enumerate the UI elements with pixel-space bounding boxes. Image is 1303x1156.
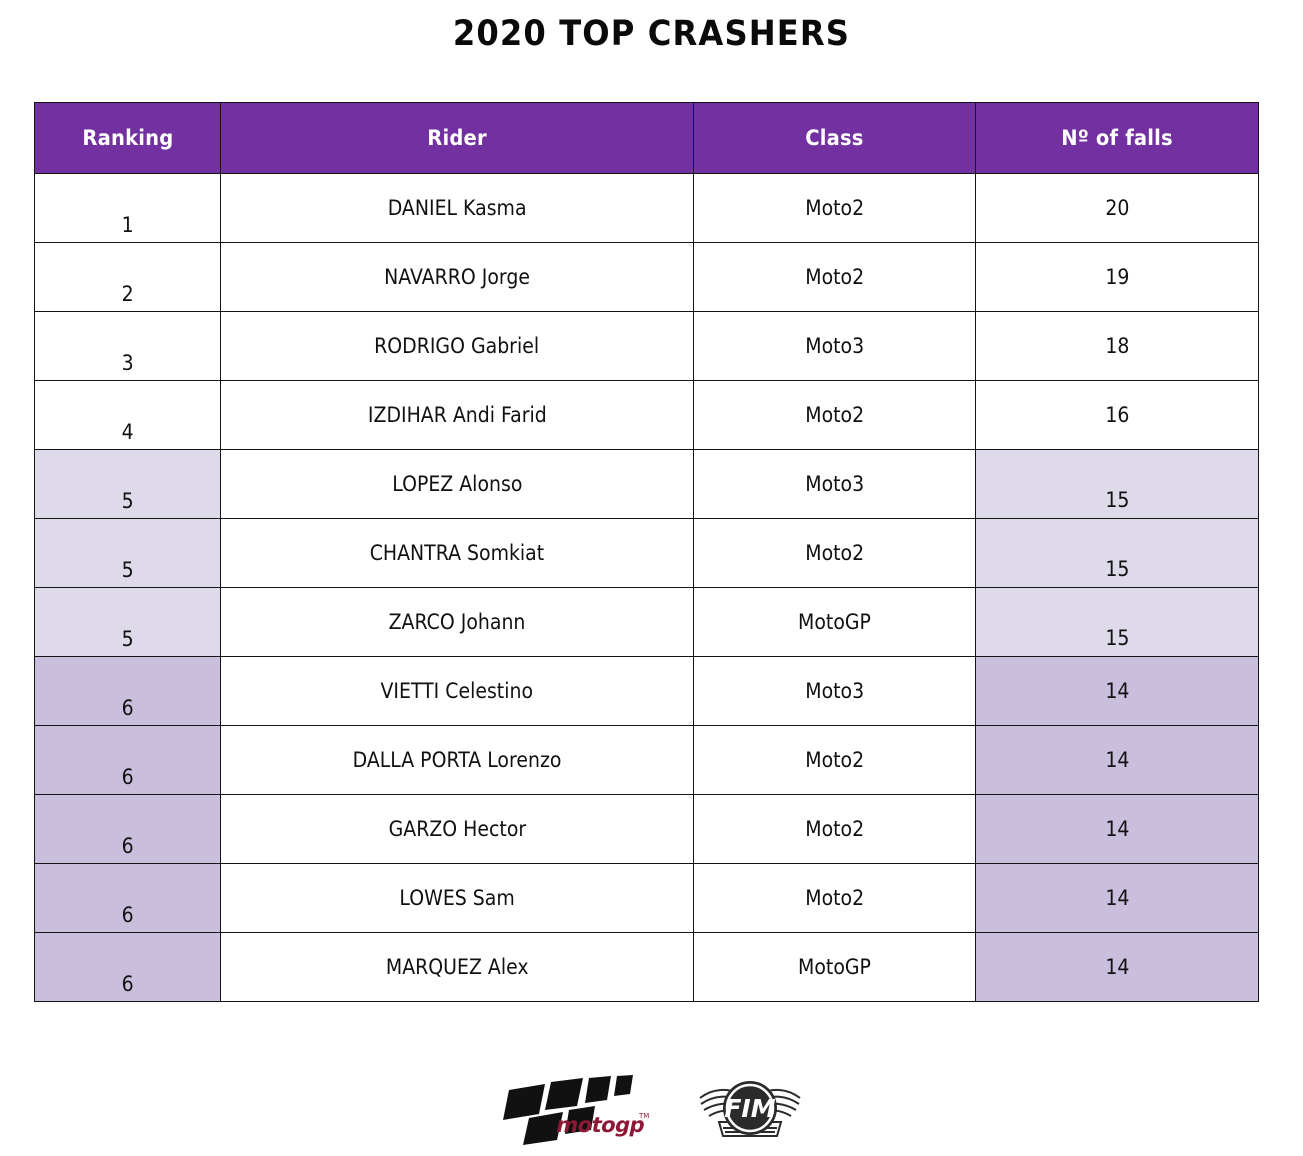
svg-text:FIM: FIM: [724, 1094, 775, 1123]
cell-rider: RODRIGO Gabriel: [221, 312, 694, 381]
cell-falls-text: 15: [1105, 488, 1129, 512]
cell-falls: 20: [976, 174, 1259, 243]
cell-rider-text: IZDIHAR Andi Farid: [368, 403, 547, 427]
cell-rider: VIETTI Celestino: [221, 657, 694, 726]
cell-class-text: Moto3: [805, 334, 864, 358]
page-title: 2020 TOP CRASHERS: [52, 14, 1251, 54]
cell-falls: 18: [976, 312, 1259, 381]
cell-rider-text: GARZO Hector: [388, 817, 526, 841]
table-row: 4IZDIHAR Andi FaridMoto216: [35, 381, 1259, 450]
motogp-logo: motogp TM: [499, 1074, 651, 1146]
cell-ranking-text: 6: [121, 765, 133, 789]
cell-falls: 15: [976, 519, 1259, 588]
cell-class-text: Moto2: [805, 817, 864, 841]
cell-falls: 19: [976, 243, 1259, 312]
cell-falls-text: 14: [1105, 955, 1129, 979]
column-header-class[interactable]: Class: [694, 103, 976, 174]
cell-class: MotoGP: [694, 933, 976, 1002]
cell-class: Moto3: [694, 312, 976, 381]
table-row: 6VIETTI CelestinoMoto314: [35, 657, 1259, 726]
cell-falls-text: 14: [1105, 886, 1129, 910]
cell-falls: 14: [976, 864, 1259, 933]
cell-falls: 14: [976, 933, 1259, 1002]
cell-class-text: Moto3: [805, 472, 864, 496]
cell-falls-text: 15: [1105, 557, 1129, 581]
cell-rider-text: MARQUEZ Alex: [386, 955, 529, 979]
column-header-rider-label: Rider: [427, 126, 487, 150]
fim-logo: FIM: [695, 1068, 805, 1152]
cell-class: Moto2: [694, 381, 976, 450]
cell-class-text: Moto3: [805, 679, 864, 703]
cell-rider: GARZO Hector: [221, 795, 694, 864]
cell-ranking-text: 6: [121, 903, 133, 927]
cell-ranking: 1: [35, 174, 221, 243]
cell-rider-text: LOWES Sam: [399, 886, 514, 910]
cell-falls: 14: [976, 726, 1259, 795]
cell-falls: 15: [976, 588, 1259, 657]
cell-class: Moto2: [694, 174, 976, 243]
column-header-rider[interactable]: Rider: [221, 103, 694, 174]
cell-rider: IZDIHAR Andi Farid: [221, 381, 694, 450]
cell-ranking: 5: [35, 519, 221, 588]
cell-class-text: MotoGP: [798, 610, 871, 634]
cell-class: Moto2: [694, 795, 976, 864]
column-header-ranking[interactable]: Ranking: [35, 103, 221, 174]
cell-class: Moto2: [694, 864, 976, 933]
cell-rider: DALLA PORTA Lorenzo: [221, 726, 694, 795]
cell-class-text: Moto2: [805, 403, 864, 427]
table-header: Ranking Rider Class Nº of falls: [35, 103, 1259, 174]
cell-rider: LOWES Sam: [221, 864, 694, 933]
cell-class-text: Moto2: [805, 886, 864, 910]
cell-rider: ZARCO Johann: [221, 588, 694, 657]
cell-rider-text: LOPEZ Alonso: [392, 472, 522, 496]
cell-rider: NAVARRO Jorge: [221, 243, 694, 312]
cell-class: Moto2: [694, 519, 976, 588]
cell-rider: DANIEL Kasma: [221, 174, 694, 243]
cell-ranking-text: 5: [121, 627, 133, 651]
cell-ranking-text: 6: [121, 834, 133, 858]
cell-falls-text: 16: [1105, 403, 1129, 427]
cell-falls: 15: [976, 450, 1259, 519]
svg-text:motogp: motogp: [553, 1113, 646, 1138]
cell-ranking-text: 5: [121, 489, 133, 513]
footer-logos: motogp TM: [0, 1068, 1303, 1152]
cell-falls-text: 20: [1105, 196, 1129, 220]
cell-class-text: Moto2: [805, 541, 864, 565]
cell-ranking: 2: [35, 243, 221, 312]
table-row: 6LOWES SamMoto214: [35, 864, 1259, 933]
table-row: 5ZARCO JohannMotoGP15: [35, 588, 1259, 657]
cell-rider-text: VIETTI Celestino: [381, 679, 534, 703]
cell-rider-text: DALLA PORTA Lorenzo: [353, 748, 562, 772]
cell-class: Moto2: [694, 726, 976, 795]
cell-class: Moto2: [694, 243, 976, 312]
cell-rider: CHANTRA Somkiat: [221, 519, 694, 588]
cell-rider: LOPEZ Alonso: [221, 450, 694, 519]
cell-class-text: Moto2: [805, 196, 864, 220]
table-row: 5CHANTRA SomkiatMoto215: [35, 519, 1259, 588]
cell-falls-text: 15: [1105, 626, 1129, 650]
cell-class: MotoGP: [694, 588, 976, 657]
cell-falls-text: 19: [1105, 265, 1129, 289]
cell-class-text: Moto2: [805, 748, 864, 772]
cell-ranking: 5: [35, 450, 221, 519]
cell-falls-text: 14: [1105, 679, 1129, 703]
cell-ranking: 4: [35, 381, 221, 450]
table-row: 5LOPEZ AlonsoMoto315: [35, 450, 1259, 519]
column-header-ranking-label: Ranking: [82, 126, 173, 150]
cell-rider-text: RODRIGO Gabriel: [375, 334, 540, 358]
cell-rider-text: DANIEL Kasma: [388, 196, 527, 220]
cell-class: Moto3: [694, 450, 976, 519]
table-row: 1DANIEL KasmaMoto220: [35, 174, 1259, 243]
cell-falls-text: 14: [1105, 748, 1129, 772]
cell-falls: 14: [976, 657, 1259, 726]
svg-text:TM: TM: [638, 1112, 649, 1120]
cell-ranking-text: 6: [121, 972, 133, 996]
table-row: 3RODRIGO GabrielMoto318: [35, 312, 1259, 381]
cell-ranking-text: 2: [121, 282, 133, 306]
cell-ranking: 3: [35, 312, 221, 381]
cell-falls: 16: [976, 381, 1259, 450]
cell-ranking: 5: [35, 588, 221, 657]
cell-ranking: 6: [35, 795, 221, 864]
cell-ranking: 6: [35, 657, 221, 726]
column-header-class-label: Class: [805, 126, 863, 150]
table-row: 2NAVARRO JorgeMoto219: [35, 243, 1259, 312]
crashers-table-container: Ranking Rider Class Nº of falls 1DANIEL …: [34, 102, 1258, 1002]
cell-ranking-text: 3: [121, 351, 133, 375]
cell-rider-text: NAVARRO Jorge: [384, 265, 530, 289]
top-crashers-table: Ranking Rider Class Nº of falls 1DANIEL …: [34, 102, 1259, 1002]
table-row: 6MARQUEZ AlexMotoGP14: [35, 933, 1259, 1002]
cell-ranking: 6: [35, 864, 221, 933]
cell-ranking-text: 1: [121, 213, 133, 237]
table-row: 6DALLA PORTA LorenzoMoto214: [35, 726, 1259, 795]
cell-falls: 14: [976, 795, 1259, 864]
cell-falls-text: 18: [1105, 334, 1129, 358]
cell-class-text: Moto2: [805, 265, 864, 289]
cell-class: Moto3: [694, 657, 976, 726]
table-body: 1DANIEL KasmaMoto2202NAVARRO JorgeMoto21…: [35, 174, 1259, 1002]
cell-ranking-text: 4: [121, 420, 133, 444]
table-header-row: Ranking Rider Class Nº of falls: [35, 103, 1259, 174]
cell-rider: MARQUEZ Alex: [221, 933, 694, 1002]
table-row: 6GARZO HectorMoto214: [35, 795, 1259, 864]
cell-rider-text: CHANTRA Somkiat: [370, 541, 544, 565]
cell-ranking: 6: [35, 726, 221, 795]
cell-ranking: 6: [35, 933, 221, 1002]
column-header-falls[interactable]: Nº of falls: [976, 103, 1259, 174]
cell-falls-text: 14: [1105, 817, 1129, 841]
column-header-falls-label: Nº of falls: [1061, 126, 1173, 150]
cell-class-text: MotoGP: [798, 955, 871, 979]
cell-ranking-text: 6: [121, 696, 133, 720]
cell-ranking-text: 5: [121, 558, 133, 582]
cell-rider-text: ZARCO Johann: [389, 610, 526, 634]
